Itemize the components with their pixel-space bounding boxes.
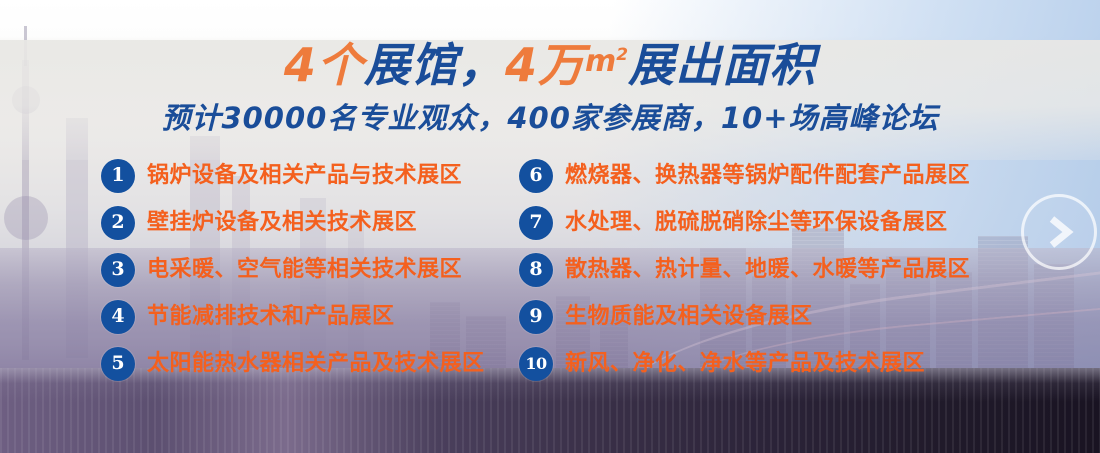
zone-number-badge: 5: [101, 347, 135, 381]
zone-item[interactable]: 2 壁挂炉设备及相关技术展区: [101, 199, 485, 246]
zone-list-left: 1 锅炉设备及相关产品与技术展区 2 壁挂炉设备及相关技术展区 3 电采暖、空气…: [101, 152, 485, 387]
zone-label: 壁挂炉设备及相关技术展区: [147, 212, 417, 234]
zone-label: 燃烧器、换热器等锅炉配件配套产品展区: [565, 165, 970, 187]
zone-label: 新风、净化、净水等产品及技术展区: [565, 353, 925, 375]
zone-number-badge: 4: [101, 300, 135, 334]
zone-label: 水处理、脱硫脱硝除尘等环保设备展区: [565, 212, 948, 234]
zone-number-badge: 6: [519, 159, 553, 193]
zone-label: 节能减排技术和产品展区: [147, 306, 395, 328]
zone-item[interactable]: 9 生物质能及相关设备展区: [519, 293, 970, 340]
zone-label: 生物质能及相关设备展区: [565, 306, 813, 328]
unit-superscript: 2: [616, 45, 628, 65]
zone-number-badge: 9: [519, 300, 553, 334]
banner-headline: 4个展馆，4万m2展出面积: [0, 42, 1100, 88]
headline-area-tail: 展出面积: [628, 38, 816, 92]
headline-area-unit: m2: [585, 44, 628, 79]
zone-number-badge: 7: [519, 206, 553, 240]
unit-m: m: [585, 44, 616, 79]
zone-number-badge: 2: [101, 206, 135, 240]
zone-item[interactable]: 5 太阳能热水器相关产品及技术展区: [101, 340, 485, 387]
zone-list-right: 6 燃烧器、换热器等锅炉配件配套产品展区 7 水处理、脱硫脱硝除尘等环保设备展区…: [519, 152, 970, 387]
headline-hall-tail: 展馆，: [364, 38, 505, 92]
zone-label: 锅炉设备及相关产品与技术展区: [147, 165, 462, 187]
skyline-pearl-lower-sphere: [4, 196, 48, 240]
zone-label: 散热器、热计量、地暖、水暖等产品展区: [565, 259, 970, 281]
zone-item[interactable]: 4 节能减排技术和产品展区: [101, 293, 485, 340]
zone-label: 太阳能热水器相关产品及技术展区: [147, 353, 485, 375]
banner-subtitle: 预计30000名专业观众，400家参展商，10+场高峰论坛: [0, 104, 1100, 133]
zone-label: 电采暖、空气能等相关技术展区: [147, 259, 462, 281]
zone-item[interactable]: 10 新风、净化、净水等产品及技术展区: [519, 340, 970, 387]
zone-item[interactable]: 7 水处理、脱硫脱硝除尘等环保设备展区: [519, 199, 970, 246]
next-slide-button[interactable]: [1021, 194, 1097, 270]
zone-number-badge: 8: [519, 253, 553, 287]
zone-item[interactable]: 3 电采暖、空气能等相关技术展区: [101, 246, 485, 293]
headline-hall-word: 个: [317, 38, 364, 92]
zone-number-badge: 1: [101, 159, 135, 193]
zone-item[interactable]: 8 散热器、热计量、地暖、水暖等产品展区: [519, 246, 970, 293]
headline-hall-count: 4: [284, 38, 317, 92]
zone-number-badge: 10: [519, 347, 553, 381]
chevron-right-icon: [1044, 215, 1074, 249]
headline-area-word: 万: [538, 38, 585, 92]
zone-item[interactable]: 1 锅炉设备及相关产品与技术展区: [101, 152, 485, 199]
promo-banner: 4个展馆，4万m2展出面积 预计30000名专业观众，400家参展商，10+场高…: [0, 0, 1100, 453]
zone-number-badge: 3: [101, 253, 135, 287]
zone-item[interactable]: 6 燃烧器、换热器等锅炉配件配套产品展区: [519, 152, 970, 199]
headline-area-count: 4: [505, 38, 538, 92]
